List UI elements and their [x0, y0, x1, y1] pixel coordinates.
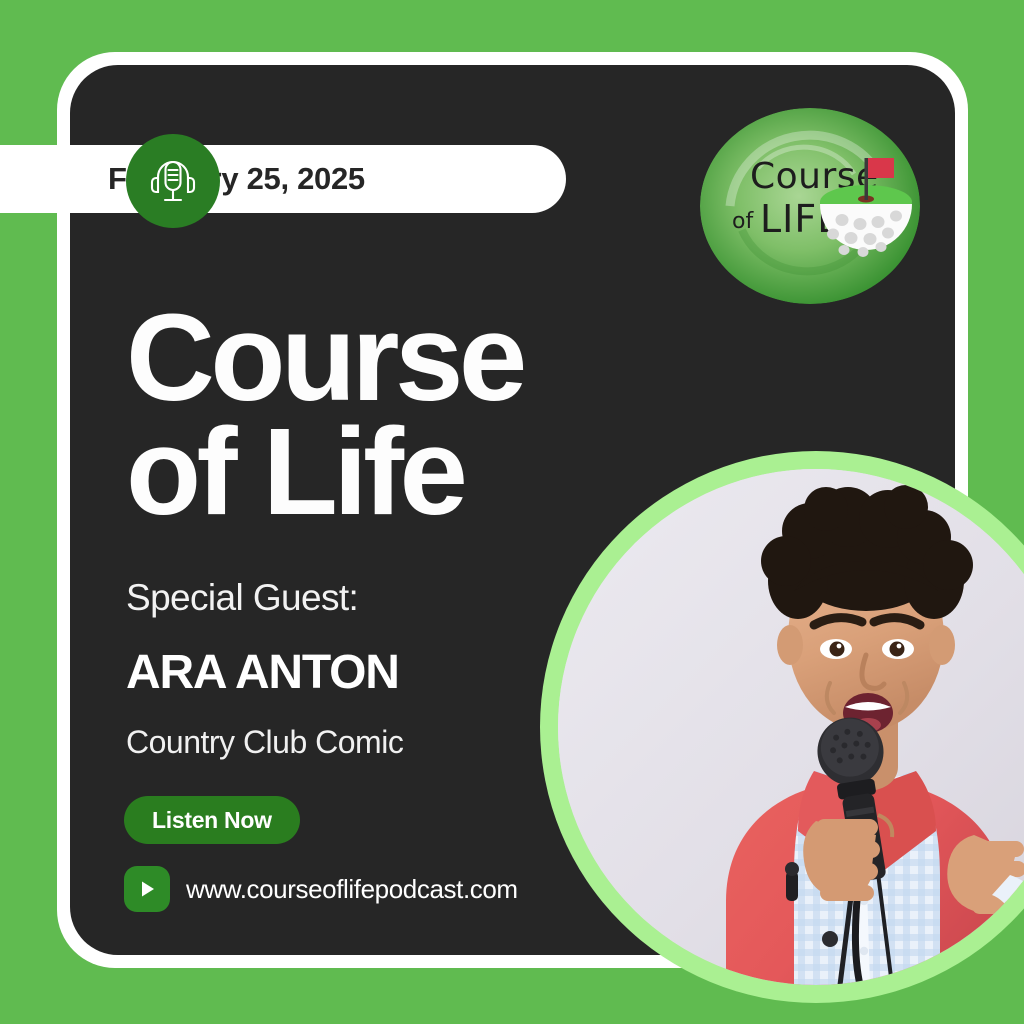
episode-date-pill: February 25, 2025 — [0, 145, 566, 213]
podcast-url-row[interactable]: www.courseoflifepodcast.com — [124, 866, 518, 912]
guest-portrait-holding-microphone — [558, 469, 1024, 985]
guest-role: Country Club Comic — [126, 724, 403, 761]
guest-info: Special Guest: ARA ANTON Country Club Co… — [126, 577, 403, 761]
listen-now-button[interactable]: Listen Now — [124, 796, 300, 844]
headline-line-2: of Life — [126, 416, 523, 530]
guest-photo — [558, 469, 1024, 985]
course-of-life-logo: Course of LIFE — [700, 108, 920, 304]
play-icon[interactable] — [124, 866, 170, 912]
podcast-microphone-headphones-icon — [126, 134, 220, 228]
course-of-life-golf-logo: Course of LIFE — [700, 108, 920, 304]
podcast-url[interactable]: www.courseoflifepodcast.com — [186, 874, 518, 905]
guest-name: ARA ANTON — [126, 645, 403, 700]
svg-text:of: of — [732, 209, 754, 234]
page-title: Course of Life — [126, 302, 523, 531]
guest-label: Special Guest: — [126, 577, 403, 619]
